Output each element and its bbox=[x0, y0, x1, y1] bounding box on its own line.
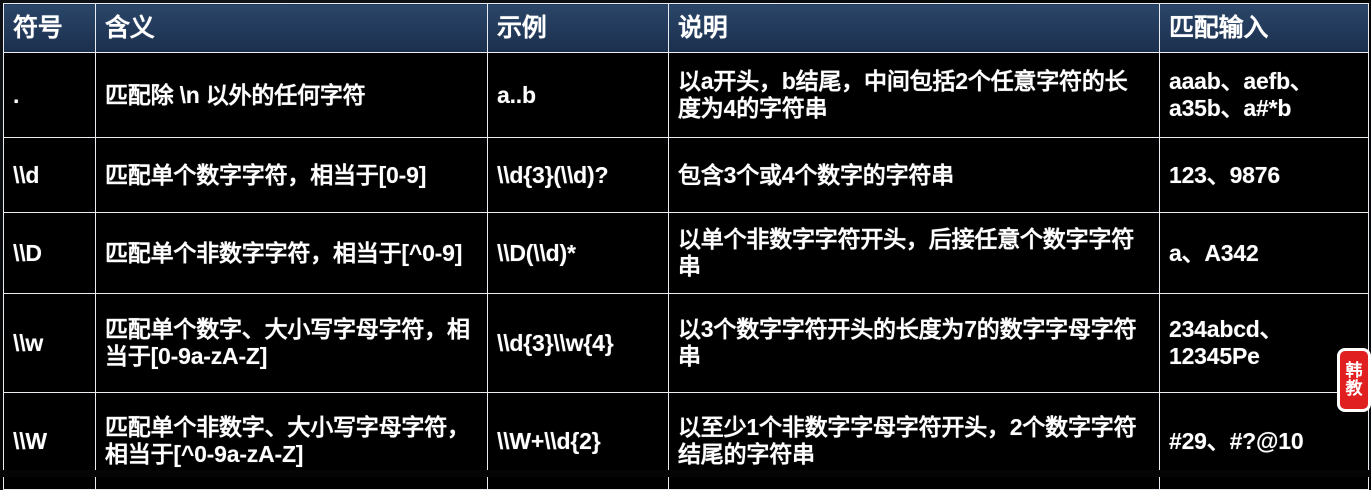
column-header-input: 匹配输入 bbox=[1160, 4, 1369, 53]
cell-meaning: 匹配除 \n 以外的任何字符 bbox=[96, 53, 488, 138]
cell-symbol: \\w bbox=[4, 294, 96, 393]
cell-symbol: \\D bbox=[4, 213, 96, 294]
header-row: 符号 含义 示例 说明 匹配输入 bbox=[4, 4, 1369, 53]
cell-symbol: . bbox=[4, 53, 96, 138]
slide-canvas: 符号 含义 示例 说明 匹配输入 . 匹配除 \n 以外的任何字符 a..b 以… bbox=[0, 0, 1371, 477]
cell-description: 包含3个或4个数字的字符串 bbox=[669, 138, 1160, 213]
column-header-symbol: 符号 bbox=[4, 4, 96, 53]
table-row: \\w 匹配单个数字、大小写字母字符，相当于[0-9a-zA-Z] \\d{3}… bbox=[4, 294, 1369, 393]
table-header: 符号 含义 示例 说明 匹配输入 bbox=[4, 4, 1369, 53]
cell-example: \\d{3}\\w{4} bbox=[488, 294, 669, 393]
cell-description: 以3个数字字符开头的长度为7的数字字母字符串 bbox=[669, 294, 1160, 393]
cell-example: a..b bbox=[488, 53, 669, 138]
slide-bottom-edge bbox=[0, 470, 1371, 477]
column-header-meaning: 含义 bbox=[96, 4, 488, 53]
cell-symbol: \\d bbox=[4, 138, 96, 213]
cell-meaning: 匹配单个数字字符，相当于[0-9] bbox=[96, 138, 488, 213]
cell-input: aaab、aefb、a35b、a#*b bbox=[1160, 53, 1369, 138]
table-row: \\D 匹配单个非数字字符，相当于[^0-9] \\D(\\d)* 以单个非数字… bbox=[4, 213, 1369, 294]
table-body: . 匹配除 \n 以外的任何字符 a..b 以a开头，b结尾，中间包括2个任意字… bbox=[4, 53, 1369, 490]
cell-example: \\D(\\d)* bbox=[488, 213, 669, 294]
cell-input: a、A342 bbox=[1160, 213, 1369, 294]
column-header-description: 说明 bbox=[669, 4, 1160, 53]
cell-meaning: 匹配单个数字、大小写字母字符，相当于[0-9a-zA-Z] bbox=[96, 294, 488, 393]
table-row: \\d 匹配单个数字字符，相当于[0-9] \\d{3}(\\d)? 包含3个或… bbox=[4, 138, 1369, 213]
table-row: . 匹配除 \n 以外的任何字符 a..b 以a开头，b结尾，中间包括2个任意字… bbox=[4, 53, 1369, 138]
column-header-example: 示例 bbox=[488, 4, 669, 53]
cell-input: 123、9876 bbox=[1160, 138, 1369, 213]
cell-description: 以a开头，b结尾，中间包括2个任意字符的长度为4的字符串 bbox=[669, 53, 1160, 138]
regex-symbol-table: 符号 含义 示例 说明 匹配输入 . 匹配除 \n 以外的任何字符 a..b 以… bbox=[3, 3, 1369, 490]
cell-example: \\d{3}(\\d)? bbox=[488, 138, 669, 213]
cell-description: 以单个非数字字符开头，后接任意个数字字符串 bbox=[669, 213, 1160, 294]
watermark-badge: 韩 教 bbox=[1337, 348, 1371, 412]
watermark-line-2: 教 bbox=[1346, 380, 1363, 398]
cell-meaning: 匹配单个非数字字符，相当于[^0-9] bbox=[96, 213, 488, 294]
watermark-line-1: 韩 bbox=[1346, 362, 1363, 380]
